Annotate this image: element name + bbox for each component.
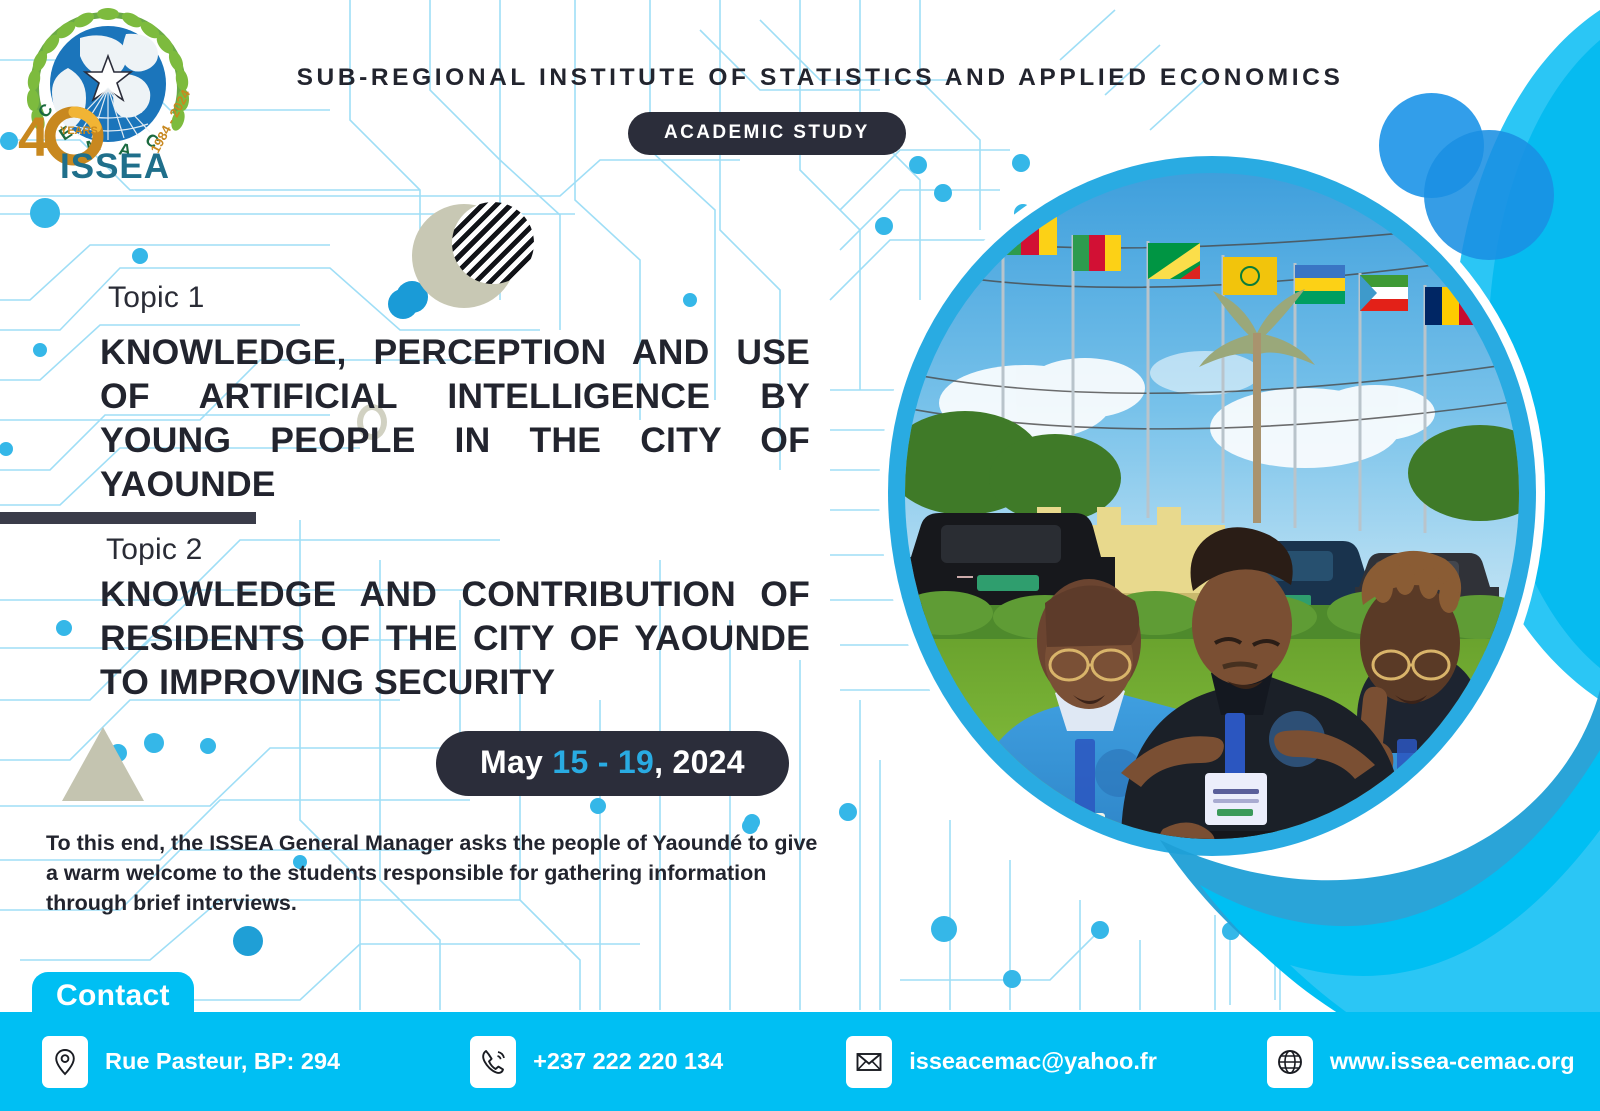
decor-striped-circle [452,202,534,284]
svg-text:YEARS: YEARS [60,125,98,137]
date-day-end: 19 [618,744,654,780]
envelope-icon [846,1036,892,1088]
date-month: May [480,744,543,780]
contact-item-address[interactable]: Rue Pasteur, BP: 294 [42,1036,340,1088]
svg-text:ISSEA: ISSEA [60,147,170,186]
date-year: , 2024 [654,744,745,780]
globe-icon [1267,1036,1313,1088]
topic-1-title: KNOWLEDGE, PERCEPTION AND USE OF ARTIFIC… [100,330,810,506]
contact-email-text: isseacemac@yahoo.fr [909,1048,1157,1075]
academic-study-badge: ACADEMIC STUDY [628,112,906,155]
contact-website-text: www.issea-cemac.org [1330,1048,1575,1075]
decor-khaki-triangle [62,727,144,801]
svg-text:4: 4 [18,105,49,168]
topic-1-label: Topic 1 [108,281,204,315]
organization-title: SUB-REGIONAL INSTITUTE OF STATISTICS AND… [270,64,1370,92]
contact-item-phone[interactable]: +237 222 220 134 [470,1036,723,1088]
body-note: To this end, the ISSEA General Manager a… [46,828,821,918]
section-divider-bar [0,512,256,524]
contact-item-email[interactable]: isseacemac@yahoo.fr [846,1036,1157,1088]
topic-2-title: KNOWLEDGE AND CONTRIBUTION OF RESIDENTS … [100,572,810,704]
date-separator: - [589,744,618,780]
contact-address-text: Rue Pasteur, BP: 294 [105,1048,340,1075]
map-pin-icon [42,1036,88,1088]
issea-cemac-logo: C E M A C 4 YEARS 1984 - 2024 ISSEA [8,4,208,189]
date-day-start: 15 [552,744,588,780]
date-badge: May 15 - 19, 2024 [436,731,789,796]
decor-blue-dot [388,289,418,319]
phone-icon [470,1036,516,1088]
contact-items: Rue Pasteur, BP: 294 +237 222 220 134 is… [0,1012,1600,1111]
contact-phone-text: +237 222 220 134 [533,1048,723,1075]
topic-2-label: Topic 2 [106,533,202,567]
contact-item-website[interactable]: www.issea-cemac.org [1267,1036,1575,1088]
